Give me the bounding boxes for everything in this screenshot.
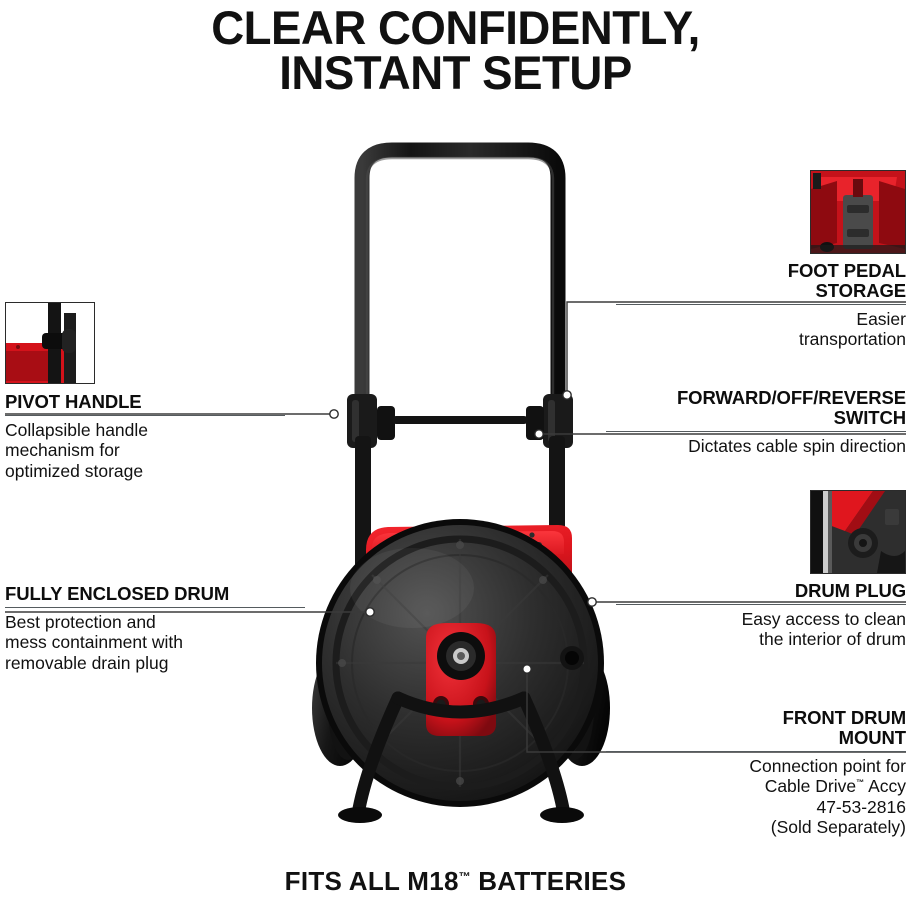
pivot-handle-thumbnail bbox=[5, 302, 95, 384]
callout-switch-title: FORWARD/OFF/REVERSE SWITCH bbox=[606, 388, 906, 428]
footer-trademark-symbol: ™ bbox=[459, 869, 471, 883]
callout-foot-pedal-storage-body: Easier transportation bbox=[616, 309, 906, 350]
callout-drum-plug-title: DRUM PLUG bbox=[616, 581, 906, 601]
drum-plug-thumbnail-art bbox=[811, 491, 905, 573]
callout-switch-rule bbox=[606, 431, 906, 432]
foot-pedal-storage-thumbnail bbox=[810, 170, 906, 254]
front-drum-mount-part-number: 47-53-2816 bbox=[816, 797, 906, 817]
footer-battery-compatibility: FITS ALL M18™ BATTERIES bbox=[0, 866, 911, 897]
foot-pedal-storage-thumbnail-art bbox=[811, 171, 905, 253]
callout-pivot-handle-rule bbox=[5, 415, 285, 416]
pivot-handle-thumbnail-art bbox=[6, 303, 94, 383]
page-title: CLEAR CONFIDENTLY, INSTANT SETUP bbox=[14, 6, 898, 95]
callout-fully-enclosed-drum-rule bbox=[5, 607, 305, 608]
callout-switch-body: Dictates cable spin direction bbox=[606, 436, 906, 456]
callout-pivot-handle-title: PIVOT HANDLE bbox=[5, 392, 285, 412]
callout-pivot-handle: PIVOT HANDLE Collapsible handle mechanis… bbox=[5, 302, 285, 481]
callout-drum-plug-rule bbox=[616, 604, 906, 605]
front-drum-mount-line-2-post: Accy bbox=[864, 776, 906, 796]
handle-pivot-brackets bbox=[347, 394, 573, 448]
headline-line-2: INSTANT SETUP bbox=[14, 51, 898, 96]
product-svg bbox=[300, 118, 620, 833]
front-drum-mount-sold-separately: (Sold Separately) bbox=[771, 817, 906, 837]
headline-line-1: CLEAR CONFIDENTLY, bbox=[14, 6, 898, 51]
base-stand-feet bbox=[338, 807, 584, 823]
callout-front-drum-mount-rule bbox=[606, 751, 906, 752]
callout-fully-enclosed-drum-body: Best protection and mess containment wit… bbox=[5, 612, 305, 673]
footer-prefix: FITS ALL M18 bbox=[285, 866, 459, 896]
callout-front-drum-mount-title: FRONT DRUM MOUNT bbox=[606, 708, 906, 748]
callout-front-drum-mount: FRONT DRUM MOUNT Connection point for Ca… bbox=[606, 708, 906, 837]
drum-plug-port bbox=[560, 646, 584, 670]
callout-pivot-handle-body: Collapsible handle mechanism for optimiz… bbox=[5, 420, 285, 481]
callout-drum-plug-body: Easy access to clean the interior of dru… bbox=[616, 609, 906, 650]
infographic-page: CLEAR CONFIDENTLY, INSTANT SETUP bbox=[0, 0, 911, 908]
front-drum-mount-line-1: Connection point for bbox=[749, 756, 906, 776]
callout-drum-plug: DRUM PLUG Easy access to clean the inter… bbox=[616, 490, 906, 650]
callout-foot-pedal-storage-title: FOOT PEDAL STORAGE bbox=[616, 261, 906, 301]
callout-forward-off-reverse-switch: FORWARD/OFF/REVERSE SWITCH Dictates cabl… bbox=[606, 388, 906, 456]
product-illustration bbox=[300, 118, 620, 833]
footer-suffix: BATTERIES bbox=[471, 866, 627, 896]
front-drum-mount-line-2-pre: Cable Drive bbox=[765, 776, 856, 796]
callout-foot-pedal-storage: FOOT PEDAL STORAGE Easier transportation bbox=[616, 170, 906, 350]
trademark-symbol: ™ bbox=[856, 778, 864, 787]
red-front-drum-mount-hub bbox=[426, 623, 496, 736]
callout-fully-enclosed-drum: FULLY ENCLOSED DRUM Best protection and … bbox=[5, 584, 305, 673]
callout-fully-enclosed-drum-title: FULLY ENCLOSED DRUM bbox=[5, 584, 305, 604]
callout-foot-pedal-storage-rule bbox=[616, 304, 906, 305]
pivot-handle-tube bbox=[362, 150, 558, 418]
drum-plug-thumbnail bbox=[810, 490, 906, 574]
callout-front-drum-mount-body: Connection point for Cable Drive™ Accy 4… bbox=[606, 756, 906, 838]
